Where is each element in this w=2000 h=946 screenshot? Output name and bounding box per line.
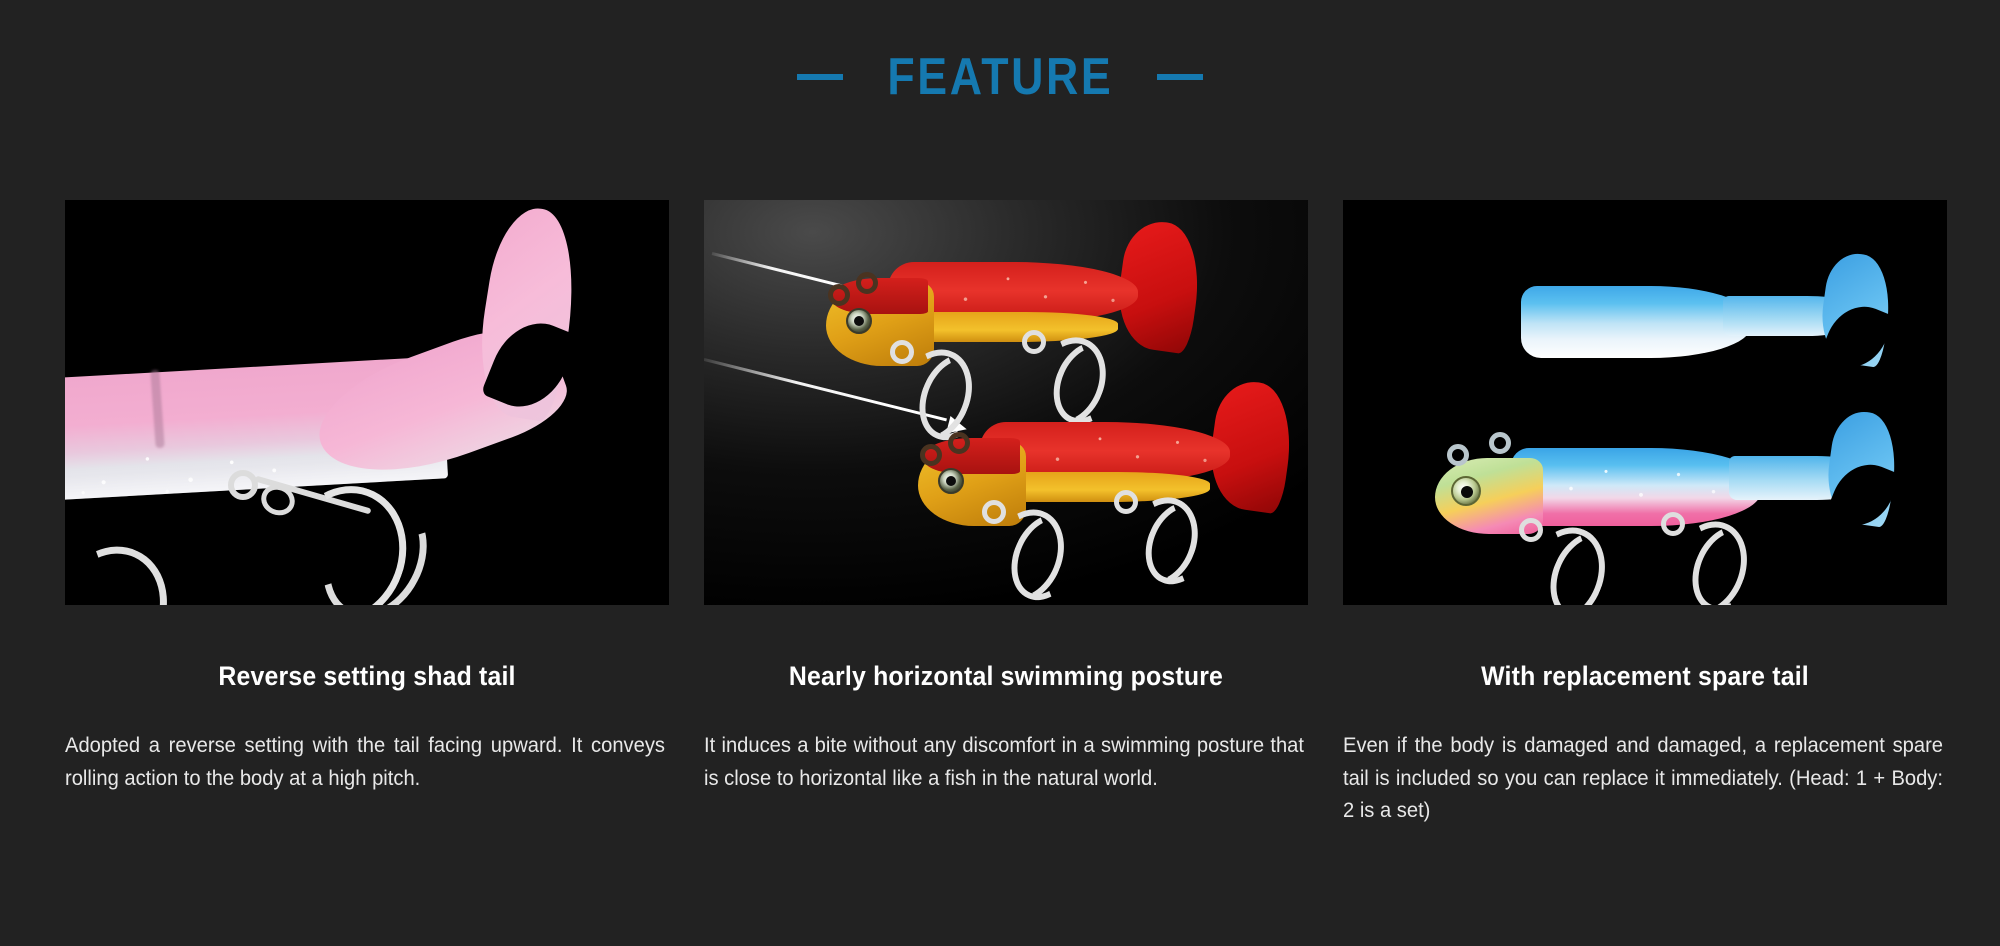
line-eyelet-icon — [948, 432, 970, 454]
split-ring-front-icon — [982, 500, 1006, 524]
section-title-row: FEATURE — [0, 46, 2000, 108]
line-eyelet-icon — [1489, 432, 1511, 454]
lure-pupil — [946, 476, 956, 486]
line-eyelet-secondary-icon — [920, 444, 942, 466]
line-eyelet-secondary-icon — [828, 284, 850, 306]
feature-card-heading: Reverse setting shad tail — [89, 660, 645, 692]
feature-card-body: Even if the body is damaged and damaged,… — [1343, 730, 1943, 828]
split-ring-rear-icon — [1022, 330, 1046, 354]
feature-card-body: Adopted a reverse setting with the tail … — [65, 730, 665, 795]
line-eyelet-secondary-icon — [1447, 444, 1469, 466]
lure-pupil — [1461, 486, 1473, 498]
split-ring-icon — [228, 470, 258, 500]
lure-glitter-texture — [1511, 448, 1761, 526]
feature-card-body: It induces a bite without any discomfort… — [704, 730, 1304, 795]
feature-section: FEATURE Reverse setting shad tail Adopte — [0, 0, 2000, 946]
title-dash-right — [1157, 74, 1203, 80]
feature-cards: Reverse setting shad tail Adopted a reve… — [65, 200, 1948, 828]
page-title: FEATURE — [887, 51, 1113, 103]
split-ring-front-icon — [890, 340, 914, 364]
lure-pupil — [854, 316, 864, 326]
feature-card-heading: With replacement spare tail — [1367, 660, 1923, 692]
line-eyelet-icon — [856, 272, 878, 294]
feature-photo-pink-shad-tail — [65, 200, 669, 605]
spare-tail-body — [1521, 286, 1751, 358]
feature-card-heading: Nearly horizontal swimming posture — [728, 660, 1284, 692]
treble-hook-front — [65, 528, 187, 605]
split-ring-front-icon — [1519, 518, 1543, 542]
feature-card-nearly-horizontal-swimming-posture: Nearly horizontal swimming posture It in… — [704, 200, 1308, 828]
feature-photo-spare-tail — [1343, 200, 1947, 605]
feature-card-with-replacement-spare-tail: With replacement spare tail Even if the … — [1343, 200, 1947, 828]
split-ring-rear-icon — [1114, 490, 1138, 514]
title-dash-left — [797, 74, 843, 80]
feature-photo-horizontal-posture — [704, 200, 1308, 605]
split-ring-rear-icon — [1661, 512, 1685, 536]
feature-card-reverse-setting-shad-tail: Reverse setting shad tail Adopted a reve… — [65, 200, 669, 828]
